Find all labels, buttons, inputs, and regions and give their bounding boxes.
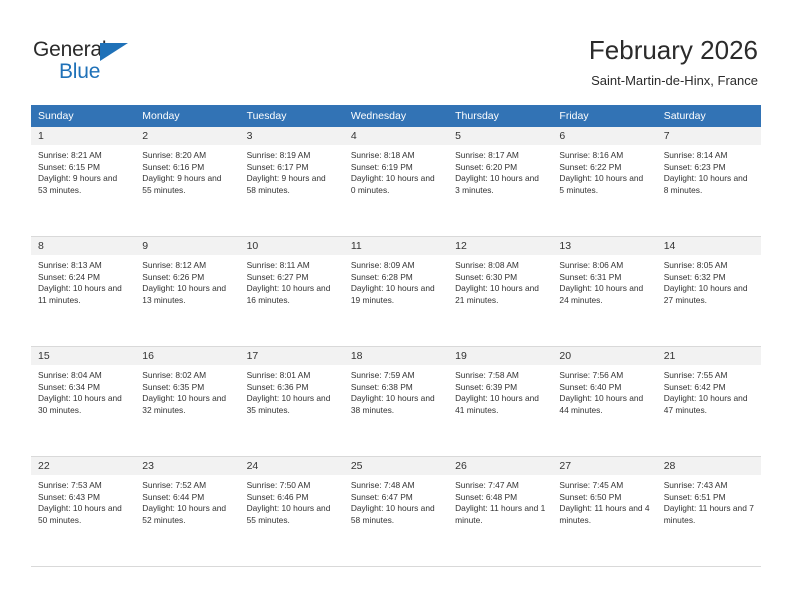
calendar-day-cell[interactable]: 13Sunrise: 8:06 AMSunset: 6:31 PMDayligh… — [552, 237, 656, 347]
sunset-text: Sunset: 6:34 PM — [38, 382, 128, 394]
day-cell-inner: 15Sunrise: 8:04 AMSunset: 6:34 PMDayligh… — [31, 347, 135, 457]
sunset-text: Sunset: 6:51 PM — [664, 492, 754, 504]
day-number: 12 — [448, 237, 552, 255]
day-cell-inner: 18Sunrise: 7:59 AMSunset: 6:38 PMDayligh… — [344, 347, 448, 457]
sunset-text: Sunset: 6:20 PM — [455, 162, 545, 174]
daylight-text: Daylight: 10 hours and 50 minutes. — [38, 503, 128, 526]
day-sun-info: Sunrise: 7:58 AMSunset: 6:39 PMDaylight:… — [448, 365, 552, 416]
calendar-day-cell[interactable]: 8Sunrise: 8:13 AMSunset: 6:24 PMDaylight… — [31, 237, 135, 347]
sunrise-text: Sunrise: 7:47 AM — [455, 480, 545, 492]
day-sun-info: Sunrise: 8:14 AMSunset: 6:23 PMDaylight:… — [657, 145, 761, 196]
weekday-header-monday: Monday — [135, 105, 239, 127]
day-sun-info: Sunrise: 8:21 AMSunset: 6:15 PMDaylight:… — [31, 145, 135, 196]
sunset-text: Sunset: 6:46 PM — [247, 492, 337, 504]
daylight-text: Daylight: 10 hours and 41 minutes. — [455, 393, 545, 416]
day-sun-info: Sunrise: 8:18 AMSunset: 6:19 PMDaylight:… — [344, 145, 448, 196]
daylight-text: Daylight: 10 hours and 38 minutes. — [351, 393, 441, 416]
day-number: 14 — [657, 237, 761, 255]
calendar-day-cell[interactable]: 11Sunrise: 8:09 AMSunset: 6:28 PMDayligh… — [344, 237, 448, 347]
daylight-text: Daylight: 10 hours and 44 minutes. — [559, 393, 649, 416]
day-number: 1 — [31, 127, 135, 145]
sunrise-text: Sunrise: 8:02 AM — [142, 370, 232, 382]
calendar-day-cell[interactable]: 19Sunrise: 7:58 AMSunset: 6:39 PMDayligh… — [448, 347, 552, 457]
page-title: February 2026 — [338, 34, 758, 66]
day-sun-info: Sunrise: 8:02 AMSunset: 6:35 PMDaylight:… — [135, 365, 239, 416]
daylight-text: Daylight: 10 hours and 5 minutes. — [559, 173, 649, 196]
day-cell-inner: 1Sunrise: 8:21 AMSunset: 6:15 PMDaylight… — [31, 127, 135, 237]
calendar-week-row: 8Sunrise: 8:13 AMSunset: 6:24 PMDaylight… — [31, 237, 761, 347]
calendar-day-cell[interactable]: 18Sunrise: 7:59 AMSunset: 6:38 PMDayligh… — [344, 347, 448, 457]
calendar-day-cell[interactable]: 6Sunrise: 8:16 AMSunset: 6:22 PMDaylight… — [552, 127, 656, 237]
daylight-text: Daylight: 10 hours and 52 minutes. — [142, 503, 232, 526]
daylight-text: Daylight: 10 hours and 55 minutes. — [247, 503, 337, 526]
calendar-day-cell[interactable]: 5Sunrise: 8:17 AMSunset: 6:20 PMDaylight… — [448, 127, 552, 237]
day-number: 28 — [657, 457, 761, 475]
daylight-text: Daylight: 9 hours and 53 minutes. — [38, 173, 128, 196]
logo-text-general: General — [33, 38, 106, 62]
day-number: 3 — [240, 127, 344, 145]
sunrise-text: Sunrise: 8:21 AM — [38, 150, 128, 162]
sunset-text: Sunset: 6:15 PM — [38, 162, 128, 174]
daylight-text: Daylight: 10 hours and 58 minutes. — [351, 503, 441, 526]
sunset-text: Sunset: 6:16 PM — [142, 162, 232, 174]
sunset-text: Sunset: 6:35 PM — [142, 382, 232, 394]
day-sun-info: Sunrise: 8:13 AMSunset: 6:24 PMDaylight:… — [31, 255, 135, 306]
calendar-day-cell[interactable]: 1Sunrise: 8:21 AMSunset: 6:15 PMDaylight… — [31, 127, 135, 237]
page-subtitle: Saint-Martin-de-Hinx, France — [338, 72, 758, 90]
day-cell-inner: 16Sunrise: 8:02 AMSunset: 6:35 PMDayligh… — [135, 347, 239, 457]
day-number: 4 — [344, 127, 448, 145]
sunset-text: Sunset: 6:48 PM — [455, 492, 545, 504]
daylight-text: Daylight: 10 hours and 47 minutes. — [664, 393, 754, 416]
daylight-text: Daylight: 11 hours and 1 minute. — [455, 503, 545, 526]
sunset-text: Sunset: 6:43 PM — [38, 492, 128, 504]
day-cell-inner: 2Sunrise: 8:20 AMSunset: 6:16 PMDaylight… — [135, 127, 239, 237]
sunset-text: Sunset: 6:40 PM — [559, 382, 649, 394]
day-cell-inner: 17Sunrise: 8:01 AMSunset: 6:36 PMDayligh… — [240, 347, 344, 457]
day-cell-inner: 13Sunrise: 8:06 AMSunset: 6:31 PMDayligh… — [552, 237, 656, 347]
day-number: 11 — [344, 237, 448, 255]
daylight-text: Daylight: 10 hours and 21 minutes. — [455, 283, 545, 306]
logo-text-blue: Blue — [59, 60, 100, 84]
calendar-body: 1Sunrise: 8:21 AMSunset: 6:15 PMDaylight… — [31, 127, 761, 567]
day-sun-info: Sunrise: 7:50 AMSunset: 6:46 PMDaylight:… — [240, 475, 344, 526]
sunrise-text: Sunrise: 8:08 AM — [455, 260, 545, 272]
calendar-day-cell[interactable]: 7Sunrise: 8:14 AMSunset: 6:23 PMDaylight… — [657, 127, 761, 237]
sunrise-text: Sunrise: 8:06 AM — [559, 260, 649, 272]
day-number: 6 — [552, 127, 656, 145]
day-cell-inner: 20Sunrise: 7:56 AMSunset: 6:40 PMDayligh… — [552, 347, 656, 457]
calendar-header-row-group: Sunday Monday Tuesday Wednesday Thursday… — [31, 105, 761, 127]
day-sun-info: Sunrise: 8:05 AMSunset: 6:32 PMDaylight:… — [657, 255, 761, 306]
weekday-header-thursday: Thursday — [448, 105, 552, 127]
day-number: 13 — [552, 237, 656, 255]
sunrise-text: Sunrise: 8:13 AM — [38, 260, 128, 272]
day-sun-info: Sunrise: 8:20 AMSunset: 6:16 PMDaylight:… — [135, 145, 239, 196]
sunrise-text: Sunrise: 7:45 AM — [559, 480, 649, 492]
day-sun-info: Sunrise: 8:06 AMSunset: 6:31 PMDaylight:… — [552, 255, 656, 306]
sunset-text: Sunset: 6:32 PM — [664, 272, 754, 284]
daylight-text: Daylight: 10 hours and 8 minutes. — [664, 173, 754, 196]
day-cell-inner: 12Sunrise: 8:08 AMSunset: 6:30 PMDayligh… — [448, 237, 552, 347]
calendar-day-cell[interactable]: 15Sunrise: 8:04 AMSunset: 6:34 PMDayligh… — [31, 347, 135, 457]
sunrise-text: Sunrise: 8:05 AM — [664, 260, 754, 272]
day-cell-inner: 26Sunrise: 7:47 AMSunset: 6:48 PMDayligh… — [448, 457, 552, 567]
day-number: 23 — [135, 457, 239, 475]
calendar-day-cell[interactable]: 4Sunrise: 8:18 AMSunset: 6:19 PMDaylight… — [344, 127, 448, 237]
sunrise-text: Sunrise: 7:52 AM — [142, 480, 232, 492]
day-sun-info: Sunrise: 8:12 AMSunset: 6:26 PMDaylight:… — [135, 255, 239, 306]
daylight-text: Daylight: 10 hours and 0 minutes. — [351, 173, 441, 196]
calendar-day-cell[interactable]: 26Sunrise: 7:47 AMSunset: 6:48 PMDayligh… — [448, 457, 552, 567]
daylight-text: Daylight: 10 hours and 27 minutes. — [664, 283, 754, 306]
page-header: General Blue February 2026 Saint-Martin-… — [0, 0, 792, 100]
day-cell-inner: 6Sunrise: 8:16 AMSunset: 6:22 PMDaylight… — [552, 127, 656, 237]
calendar-page: General Blue February 2026 Saint-Martin-… — [0, 0, 792, 612]
sunrise-text: Sunrise: 8:19 AM — [247, 150, 337, 162]
calendar-day-cell[interactable]: 3Sunrise: 8:19 AMSunset: 6:17 PMDaylight… — [240, 127, 344, 237]
day-sun-info: Sunrise: 8:11 AMSunset: 6:27 PMDaylight:… — [240, 255, 344, 306]
calendar-day-cell[interactable]: 21Sunrise: 7:55 AMSunset: 6:42 PMDayligh… — [657, 347, 761, 457]
calendar-day-cell[interactable]: 27Sunrise: 7:45 AMSunset: 6:50 PMDayligh… — [552, 457, 656, 567]
day-sun-info: Sunrise: 8:19 AMSunset: 6:17 PMDaylight:… — [240, 145, 344, 196]
triangle-icon — [100, 43, 128, 61]
calendar-day-cell[interactable]: 23Sunrise: 7:52 AMSunset: 6:44 PMDayligh… — [135, 457, 239, 567]
day-number: 27 — [552, 457, 656, 475]
sunrise-text: Sunrise: 8:14 AM — [664, 150, 754, 162]
sunrise-text: Sunrise: 7:55 AM — [664, 370, 754, 382]
calendar-day-cell[interactable]: 22Sunrise: 7:53 AMSunset: 6:43 PMDayligh… — [31, 457, 135, 567]
daylight-text: Daylight: 10 hours and 3 minutes. — [455, 173, 545, 196]
day-cell-inner: 11Sunrise: 8:09 AMSunset: 6:28 PMDayligh… — [344, 237, 448, 347]
day-cell-inner: 4Sunrise: 8:18 AMSunset: 6:19 PMDaylight… — [344, 127, 448, 237]
day-sun-info: Sunrise: 7:59 AMSunset: 6:38 PMDaylight:… — [344, 365, 448, 416]
calendar-day-cell[interactable]: 10Sunrise: 8:11 AMSunset: 6:27 PMDayligh… — [240, 237, 344, 347]
day-number: 17 — [240, 347, 344, 365]
day-cell-inner: 23Sunrise: 7:52 AMSunset: 6:44 PMDayligh… — [135, 457, 239, 567]
calendar-day-cell[interactable]: 24Sunrise: 7:50 AMSunset: 6:46 PMDayligh… — [240, 457, 344, 567]
calendar-day-cell[interactable]: 17Sunrise: 8:01 AMSunset: 6:36 PMDayligh… — [240, 347, 344, 457]
sunset-text: Sunset: 6:30 PM — [455, 272, 545, 284]
day-sun-info: Sunrise: 7:53 AMSunset: 6:43 PMDaylight:… — [31, 475, 135, 526]
title-block: February 2026 Saint-Martin-de-Hinx, Fran… — [338, 34, 758, 90]
daylight-text: Daylight: 10 hours and 13 minutes. — [142, 283, 232, 306]
day-sun-info: Sunrise: 7:55 AMSunset: 6:42 PMDaylight:… — [657, 365, 761, 416]
sunset-text: Sunset: 6:44 PM — [142, 492, 232, 504]
day-cell-inner: 21Sunrise: 7:55 AMSunset: 6:42 PMDayligh… — [657, 347, 761, 457]
calendar-day-cell[interactable]: 14Sunrise: 8:05 AMSunset: 6:32 PMDayligh… — [657, 237, 761, 347]
day-number: 18 — [344, 347, 448, 365]
day-sun-info: Sunrise: 7:45 AMSunset: 6:50 PMDaylight:… — [552, 475, 656, 526]
daylight-text: Daylight: 10 hours and 16 minutes. — [247, 283, 337, 306]
day-number: 26 — [448, 457, 552, 475]
daylight-text: Daylight: 11 hours and 7 minutes. — [664, 503, 754, 526]
day-sun-info: Sunrise: 8:04 AMSunset: 6:34 PMDaylight:… — [31, 365, 135, 416]
weekday-header-row: Sunday Monday Tuesday Wednesday Thursday… — [31, 105, 761, 127]
sunrise-text: Sunrise: 7:50 AM — [247, 480, 337, 492]
day-number: 21 — [657, 347, 761, 365]
sunset-text: Sunset: 6:50 PM — [559, 492, 649, 504]
sunrise-text: Sunrise: 8:04 AM — [38, 370, 128, 382]
day-sun-info: Sunrise: 7:43 AMSunset: 6:51 PMDaylight:… — [657, 475, 761, 526]
daylight-text: Daylight: 9 hours and 55 minutes. — [142, 173, 232, 196]
sunrise-text: Sunrise: 8:17 AM — [455, 150, 545, 162]
day-cell-inner: 3Sunrise: 8:19 AMSunset: 6:17 PMDaylight… — [240, 127, 344, 237]
sunrise-text: Sunrise: 7:59 AM — [351, 370, 441, 382]
daylight-text: Daylight: 11 hours and 4 minutes. — [559, 503, 649, 526]
calendar-day-cell[interactable]: 12Sunrise: 8:08 AMSunset: 6:30 PMDayligh… — [448, 237, 552, 347]
calendar-week-row: 1Sunrise: 8:21 AMSunset: 6:15 PMDaylight… — [31, 127, 761, 237]
sunrise-text: Sunrise: 7:58 AM — [455, 370, 545, 382]
day-cell-inner: 25Sunrise: 7:48 AMSunset: 6:47 PMDayligh… — [344, 457, 448, 567]
day-sun-info: Sunrise: 7:56 AMSunset: 6:40 PMDaylight:… — [552, 365, 656, 416]
day-number: 15 — [31, 347, 135, 365]
weekday-header-wednesday: Wednesday — [344, 105, 448, 127]
sunrise-text: Sunrise: 8:18 AM — [351, 150, 441, 162]
day-cell-inner: 5Sunrise: 8:17 AMSunset: 6:20 PMDaylight… — [448, 127, 552, 237]
calendar-day-cell[interactable]: 2Sunrise: 8:20 AMSunset: 6:16 PMDaylight… — [135, 127, 239, 237]
day-sun-info: Sunrise: 8:08 AMSunset: 6:30 PMDaylight:… — [448, 255, 552, 306]
day-sun-info: Sunrise: 8:17 AMSunset: 6:20 PMDaylight:… — [448, 145, 552, 196]
sunset-text: Sunset: 6:24 PM — [38, 272, 128, 284]
sunrise-text: Sunrise: 8:20 AM — [142, 150, 232, 162]
day-number: 19 — [448, 347, 552, 365]
day-number: 2 — [135, 127, 239, 145]
daylight-text: Daylight: 10 hours and 19 minutes. — [351, 283, 441, 306]
day-cell-inner: 14Sunrise: 8:05 AMSunset: 6:32 PMDayligh… — [657, 237, 761, 347]
sunrise-text: Sunrise: 7:56 AM — [559, 370, 649, 382]
day-cell-inner: 19Sunrise: 7:58 AMSunset: 6:39 PMDayligh… — [448, 347, 552, 457]
day-sun-info: Sunrise: 8:01 AMSunset: 6:36 PMDaylight:… — [240, 365, 344, 416]
sunrise-text: Sunrise: 8:11 AM — [247, 260, 337, 272]
sunrise-text: Sunrise: 8:12 AM — [142, 260, 232, 272]
daylight-text: Daylight: 10 hours and 11 minutes. — [38, 283, 128, 306]
sunrise-text: Sunrise: 7:48 AM — [351, 480, 441, 492]
calendar-week-row: 22Sunrise: 7:53 AMSunset: 6:43 PMDayligh… — [31, 457, 761, 567]
sunset-text: Sunset: 6:36 PM — [247, 382, 337, 394]
sunset-text: Sunset: 6:38 PM — [351, 382, 441, 394]
sunrise-text: Sunrise: 8:09 AM — [351, 260, 441, 272]
day-number: 5 — [448, 127, 552, 145]
day-number: 9 — [135, 237, 239, 255]
sunset-text: Sunset: 6:17 PM — [247, 162, 337, 174]
weekday-header-saturday: Saturday — [657, 105, 761, 127]
day-sun-info: Sunrise: 7:48 AMSunset: 6:47 PMDaylight:… — [344, 475, 448, 526]
day-cell-inner: 28Sunrise: 7:43 AMSunset: 6:51 PMDayligh… — [657, 457, 761, 567]
day-sun-info: Sunrise: 8:09 AMSunset: 6:28 PMDaylight:… — [344, 255, 448, 306]
daylight-text: Daylight: 10 hours and 32 minutes. — [142, 393, 232, 416]
day-number: 20 — [552, 347, 656, 365]
sunset-text: Sunset: 6:47 PM — [351, 492, 441, 504]
daylight-text: Daylight: 10 hours and 24 minutes. — [559, 283, 649, 306]
daylight-text: Daylight: 10 hours and 35 minutes. — [247, 393, 337, 416]
sunset-text: Sunset: 6:27 PM — [247, 272, 337, 284]
day-cell-inner: 10Sunrise: 8:11 AMSunset: 6:27 PMDayligh… — [240, 237, 344, 347]
sunset-text: Sunset: 6:19 PM — [351, 162, 441, 174]
sunset-text: Sunset: 6:42 PM — [664, 382, 754, 394]
day-sun-info: Sunrise: 8:16 AMSunset: 6:22 PMDaylight:… — [552, 145, 656, 196]
calendar-day-cell[interactable]: 25Sunrise: 7:48 AMSunset: 6:47 PMDayligh… — [344, 457, 448, 567]
calendar-day-cell[interactable]: 28Sunrise: 7:43 AMSunset: 6:51 PMDayligh… — [657, 457, 761, 567]
calendar-week-row: 15Sunrise: 8:04 AMSunset: 6:34 PMDayligh… — [31, 347, 761, 457]
daylight-text: Daylight: 9 hours and 58 minutes. — [247, 173, 337, 196]
calendar-day-cell[interactable]: 16Sunrise: 8:02 AMSunset: 6:35 PMDayligh… — [135, 347, 239, 457]
day-cell-inner: 22Sunrise: 7:53 AMSunset: 6:43 PMDayligh… — [31, 457, 135, 567]
day-sun-info: Sunrise: 7:47 AMSunset: 6:48 PMDaylight:… — [448, 475, 552, 526]
day-number: 10 — [240, 237, 344, 255]
sunrise-text: Sunrise: 7:53 AM — [38, 480, 128, 492]
day-sun-info: Sunrise: 7:52 AMSunset: 6:44 PMDaylight:… — [135, 475, 239, 526]
sunrise-text: Sunrise: 8:01 AM — [247, 370, 337, 382]
day-number: 16 — [135, 347, 239, 365]
weekday-header-tuesday: Tuesday — [240, 105, 344, 127]
day-number: 25 — [344, 457, 448, 475]
weekday-header-sunday: Sunday — [31, 105, 135, 127]
sunrise-text: Sunrise: 8:16 AM — [559, 150, 649, 162]
calendar-table-wrapper: Sunday Monday Tuesday Wednesday Thursday… — [31, 105, 761, 567]
day-cell-inner: 9Sunrise: 8:12 AMSunset: 6:26 PMDaylight… — [135, 237, 239, 347]
day-number: 8 — [31, 237, 135, 255]
sunset-text: Sunset: 6:23 PM — [664, 162, 754, 174]
sunset-text: Sunset: 6:39 PM — [455, 382, 545, 394]
day-number: 7 — [657, 127, 761, 145]
sunset-text: Sunset: 6:31 PM — [559, 272, 649, 284]
general-blue-logo[interactable]: General Blue — [33, 38, 153, 86]
day-cell-inner: 24Sunrise: 7:50 AMSunset: 6:46 PMDayligh… — [240, 457, 344, 567]
day-cell-inner: 27Sunrise: 7:45 AMSunset: 6:50 PMDayligh… — [552, 457, 656, 567]
weekday-header-friday: Friday — [552, 105, 656, 127]
calendar-day-cell[interactable]: 20Sunrise: 7:56 AMSunset: 6:40 PMDayligh… — [552, 347, 656, 457]
daylight-text: Daylight: 10 hours and 30 minutes. — [38, 393, 128, 416]
sunset-text: Sunset: 6:28 PM — [351, 272, 441, 284]
calendar-day-cell[interactable]: 9Sunrise: 8:12 AMSunset: 6:26 PMDaylight… — [135, 237, 239, 347]
sunset-text: Sunset: 6:26 PM — [142, 272, 232, 284]
day-cell-inner: 7Sunrise: 8:14 AMSunset: 6:23 PMDaylight… — [657, 127, 761, 237]
sunrise-text: Sunrise: 7:43 AM — [664, 480, 754, 492]
sunset-text: Sunset: 6:22 PM — [559, 162, 649, 174]
day-cell-inner: 8Sunrise: 8:13 AMSunset: 6:24 PMDaylight… — [31, 237, 135, 347]
day-number: 22 — [31, 457, 135, 475]
calendar-table: Sunday Monday Tuesday Wednesday Thursday… — [31, 105, 761, 567]
day-number: 24 — [240, 457, 344, 475]
